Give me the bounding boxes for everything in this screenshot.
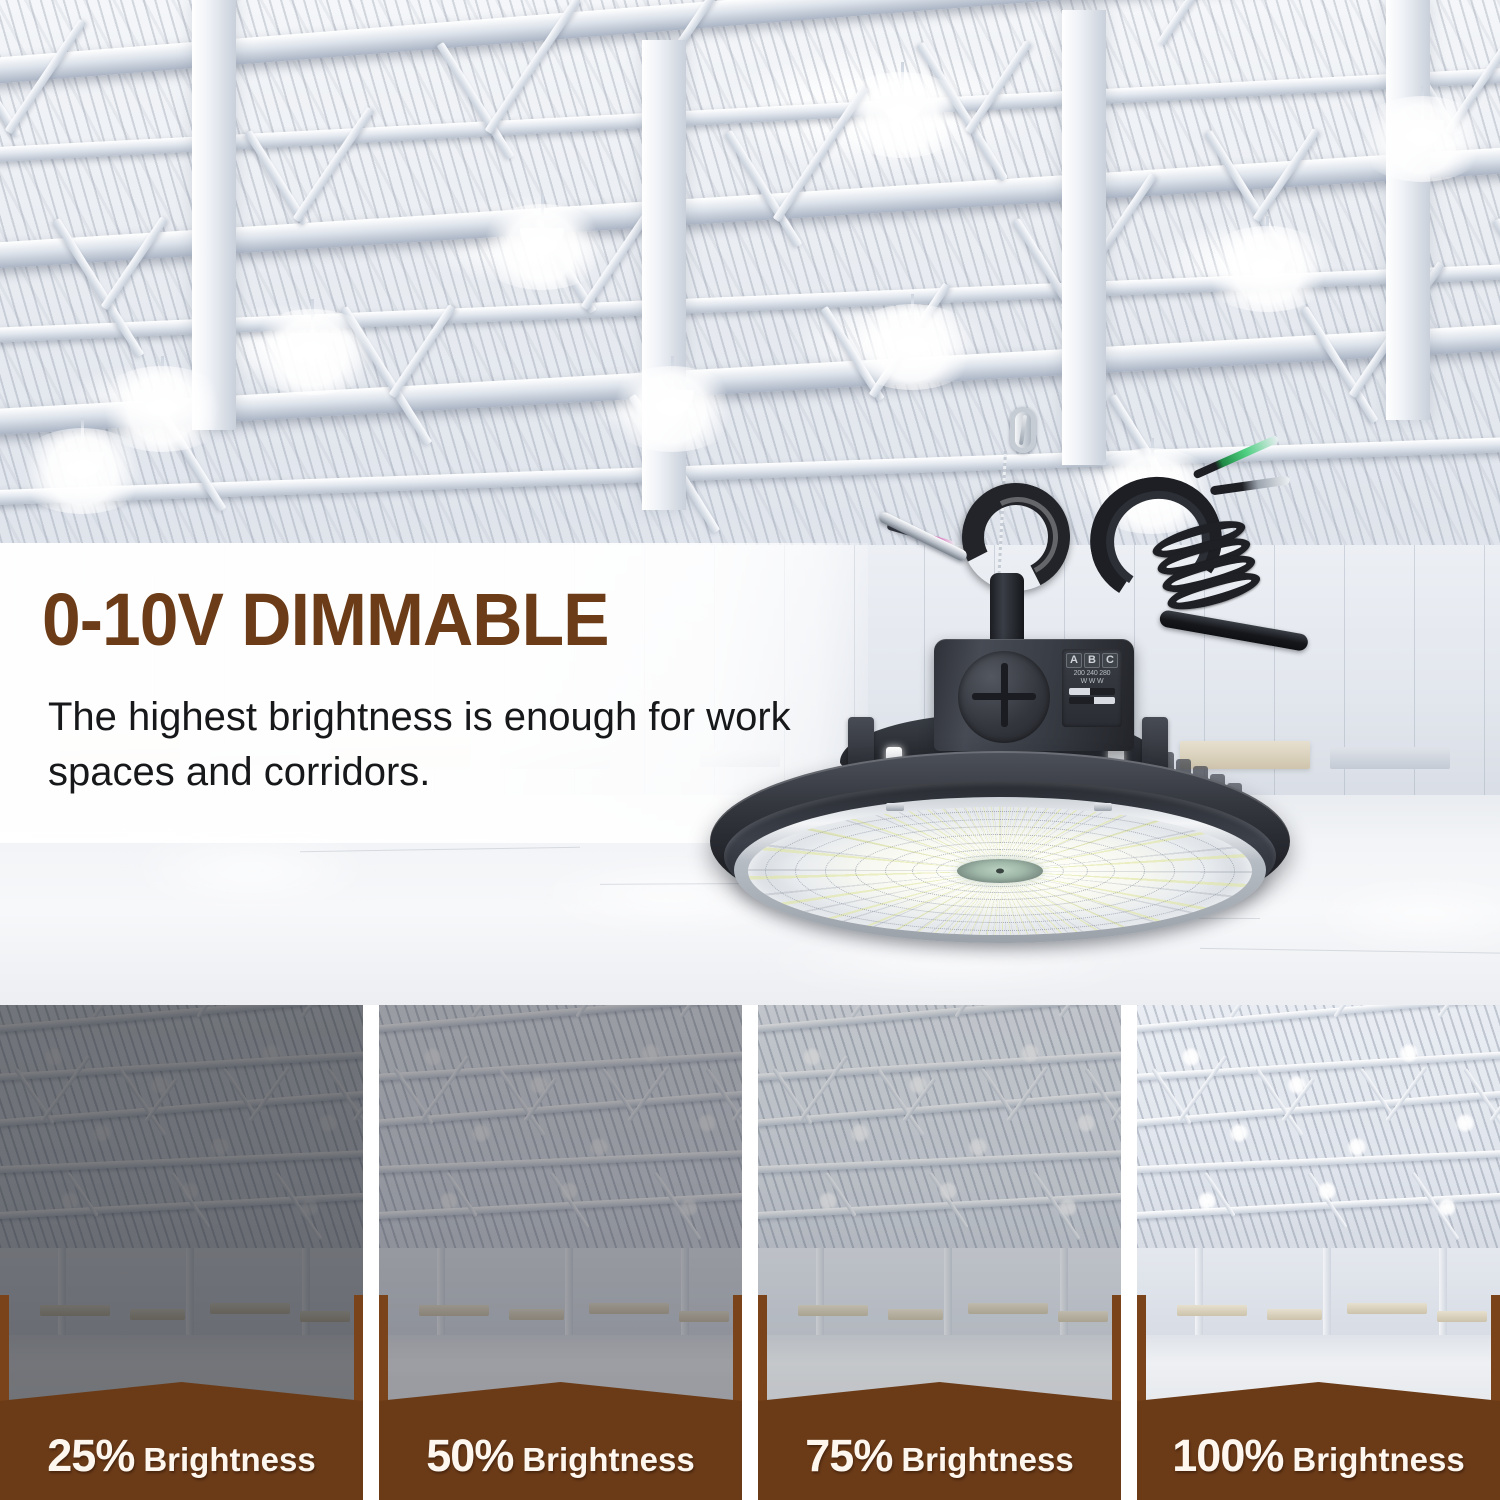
brightness-percent: 100% (1172, 1430, 1283, 1481)
brightness-preview-image (379, 1005, 742, 1405)
mini-ceiling-lamp (968, 1137, 988, 1157)
mini-ceiling-lamp (1399, 1043, 1419, 1063)
mini-ceiling-lamp (1455, 1113, 1475, 1133)
mini-ceiling-lamp (1347, 1137, 1367, 1157)
mini-column (1323, 1248, 1331, 1340)
brightness-preview-image (758, 1005, 1121, 1405)
mini-ceiling-lamp (150, 1075, 170, 1095)
brightness-caption: 100%Brightness (1137, 1433, 1500, 1478)
mini-ceiling (758, 1005, 1121, 1255)
brightness-preview-image (0, 1005, 363, 1405)
mini-goods (210, 1303, 290, 1314)
lens-clip (1094, 803, 1112, 811)
mini-goods (509, 1309, 564, 1320)
mini-ceiling-lamp (471, 1123, 491, 1143)
mini-ceiling-lamp (1317, 1181, 1337, 1201)
brightness-word: Brightness (901, 1441, 1073, 1478)
wall-seam (1484, 545, 1485, 800)
mini-ceiling-lamp (262, 1043, 282, 1063)
mini-goods (419, 1305, 489, 1316)
lamp-glow (244, 309, 380, 395)
mini-ceiling-lamp (559, 1181, 579, 1201)
mini-ceiling-lamp (908, 1075, 928, 1095)
mini-ceiling-lamp (300, 1197, 320, 1217)
brightness-percent: 50% (426, 1430, 513, 1481)
product-marketing-image: 0-10V DIMMABLE The highest brightness is… (0, 0, 1500, 1500)
mini-ceiling (379, 1005, 742, 1255)
lamp-glow (1354, 96, 1490, 182)
brightness-preview-image (1137, 1005, 1500, 1405)
mini-ceiling (0, 1005, 363, 1255)
mini-goods (1267, 1309, 1322, 1320)
mini-ceiling-lamp (1076, 1113, 1096, 1133)
mini-ceiling-lamp (818, 1191, 838, 1211)
selector-cell-c: C (1102, 653, 1118, 668)
mini-ceiling-lamp (697, 1113, 717, 1133)
mini-column (816, 1248, 824, 1340)
mini-column (186, 1248, 194, 1340)
wattage-values: 200 240 280 (1065, 670, 1119, 678)
mini-ceiling-lamp (938, 1181, 958, 1201)
brightness-word: Brightness (1292, 1441, 1464, 1478)
mini-ceiling-lamp (439, 1191, 459, 1211)
dip-switch-2[interactable] (1069, 697, 1115, 704)
mini-goods (589, 1303, 669, 1314)
mini-ceiling-lamp (423, 1047, 443, 1067)
mini-goods (1347, 1303, 1427, 1314)
mini-goods (40, 1305, 110, 1316)
mini-ceiling-lamp (1058, 1197, 1078, 1217)
mini-ceiling-lamp (210, 1137, 230, 1157)
lamp-glow (1199, 226, 1335, 312)
brightness-panel[interactable]: 50%Brightness (379, 1005, 742, 1500)
mini-ceiling (1137, 1005, 1500, 1255)
wattage-units: W W W (1065, 678, 1119, 686)
mini-goods (798, 1305, 868, 1316)
mini-column (437, 1248, 445, 1340)
mini-goods (130, 1309, 185, 1320)
mini-column (1195, 1248, 1203, 1340)
mini-ceiling-lamp (1020, 1043, 1040, 1063)
mini-column (681, 1248, 689, 1340)
mini-ceiling-lamp (92, 1123, 112, 1143)
selector-letters-row: A B C (1065, 653, 1119, 668)
mini-column (58, 1248, 66, 1340)
mini-ceiling-lamp (1287, 1075, 1307, 1095)
mini-ceiling-lamp (1437, 1197, 1457, 1217)
mini-goods (679, 1311, 729, 1322)
mini-ceiling-lamp (1229, 1123, 1249, 1143)
selector-cell-b: B (1084, 653, 1100, 668)
mini-column (565, 1248, 573, 1340)
mini-column (1439, 1248, 1447, 1340)
brightness-caption: 50%Brightness (379, 1433, 742, 1478)
lamp-glow (14, 428, 150, 514)
brightness-caption-bar: 100%Brightness (1137, 1382, 1500, 1500)
brightness-caption-bar: 25%Brightness (0, 1382, 363, 1500)
mini-goods (300, 1311, 350, 1322)
mini-ceiling-lamp (802, 1047, 822, 1067)
green-ground-wire (1192, 435, 1279, 480)
floor-sheen (1300, 885, 1500, 945)
mini-ceiling-lamp (180, 1181, 200, 1201)
support-column (192, 0, 236, 430)
led-high-bay-fixture: A B C 200 240 280 W W W (690, 395, 1310, 965)
wattage-selector-label[interactable]: A B C 200 240 280 W W W (1062, 649, 1122, 727)
mini-goods (968, 1303, 1048, 1314)
mini-ceiling-lamp (641, 1043, 661, 1063)
mini-ceiling-lamp (318, 1113, 338, 1133)
mini-goods (888, 1309, 943, 1320)
lens-clip (886, 803, 904, 811)
mini-goods (1437, 1311, 1487, 1322)
mini-column (1060, 1248, 1068, 1340)
mini-ceiling-lamp (529, 1075, 549, 1095)
mini-ceiling-lamp (850, 1123, 870, 1143)
lamp-glow (474, 204, 610, 290)
mini-column (944, 1248, 952, 1340)
lamp-glow (844, 304, 980, 390)
cross-mark-vertical (1001, 663, 1008, 727)
mini-ceiling-lamp (44, 1047, 64, 1067)
mini-goods (1058, 1311, 1108, 1322)
brightness-panel[interactable]: 75%Brightness (758, 1005, 1121, 1500)
lens-center-dot (996, 869, 1004, 874)
mini-ceiling-lamp (589, 1137, 609, 1157)
brightness-caption-bar: 50%Brightness (379, 1382, 742, 1500)
mini-ceiling-lamp (1181, 1047, 1201, 1067)
brightness-word: Brightness (143, 1441, 315, 1478)
mini-column (302, 1248, 310, 1340)
support-column (1386, 0, 1430, 420)
mini-ceiling-lamp (1197, 1191, 1217, 1211)
safety-latch (877, 511, 968, 563)
lamp-glow (834, 72, 970, 158)
stacked-crate (1330, 747, 1450, 769)
brightness-caption-bar: 75%Brightness (758, 1382, 1121, 1500)
hero-photo: 0-10V DIMMABLE The highest brightness is… (0, 0, 1500, 1005)
brightness-panel[interactable]: 100%Brightness (1137, 1005, 1500, 1500)
page-title: 0-10V DIMMABLE (42, 577, 609, 662)
brightness-percent: 25% (47, 1430, 134, 1481)
brightness-caption: 25%Brightness (0, 1433, 363, 1478)
mini-ceiling-lamp (679, 1197, 699, 1217)
led-lens-array (748, 807, 1252, 935)
dip-switch-1[interactable] (1069, 688, 1115, 695)
floor-sheen (120, 835, 380, 905)
brightness-percent: 75% (805, 1430, 892, 1481)
grey-wire-lead (1210, 475, 1290, 495)
brightness-panel[interactable]: 25%Brightness (0, 1005, 363, 1500)
mini-goods (1177, 1305, 1247, 1316)
brightness-word: Brightness (522, 1441, 694, 1478)
selector-cell-a: A (1066, 653, 1082, 668)
brightness-caption: 75%Brightness (758, 1433, 1121, 1478)
mini-ceiling-lamp (60, 1191, 80, 1211)
brightness-comparison-strip: 25%Brightness (0, 1005, 1500, 1500)
